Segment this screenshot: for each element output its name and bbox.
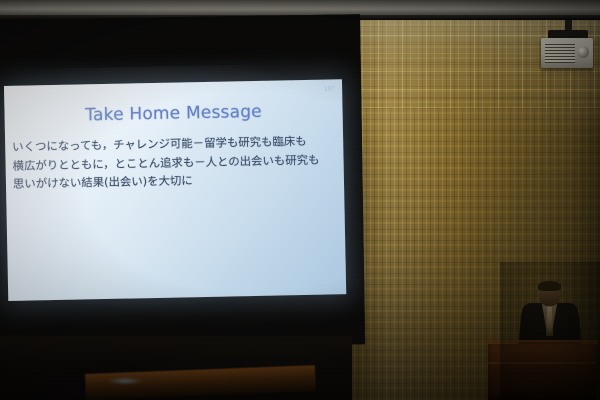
projector-lens — [577, 46, 589, 58]
projected-slide: 107 Take Home Message いくつになっても，チャレンジ可能－留… — [4, 79, 346, 301]
presenter-hair — [538, 281, 561, 291]
projector-vent-grille — [545, 43, 575, 63]
podium-edge-highlight — [488, 362, 596, 364]
slide-title: Take Home Message — [4, 100, 342, 127]
table-reflection — [108, 378, 142, 384]
podium — [488, 344, 596, 400]
slide-number: 107 — [324, 86, 335, 92]
ceiling-projector — [541, 38, 593, 68]
ceiling-band — [0, 0, 600, 15]
slide-body-text: いくつになっても，チャレンジ可能－留学も研究も臨床も 横広がりとともに，とことん… — [12, 131, 336, 193]
presenter — [518, 282, 580, 348]
lecture-hall-photo: 107 Take Home Message いくつになっても，チャレンジ可能－留… — [0, 0, 600, 400]
